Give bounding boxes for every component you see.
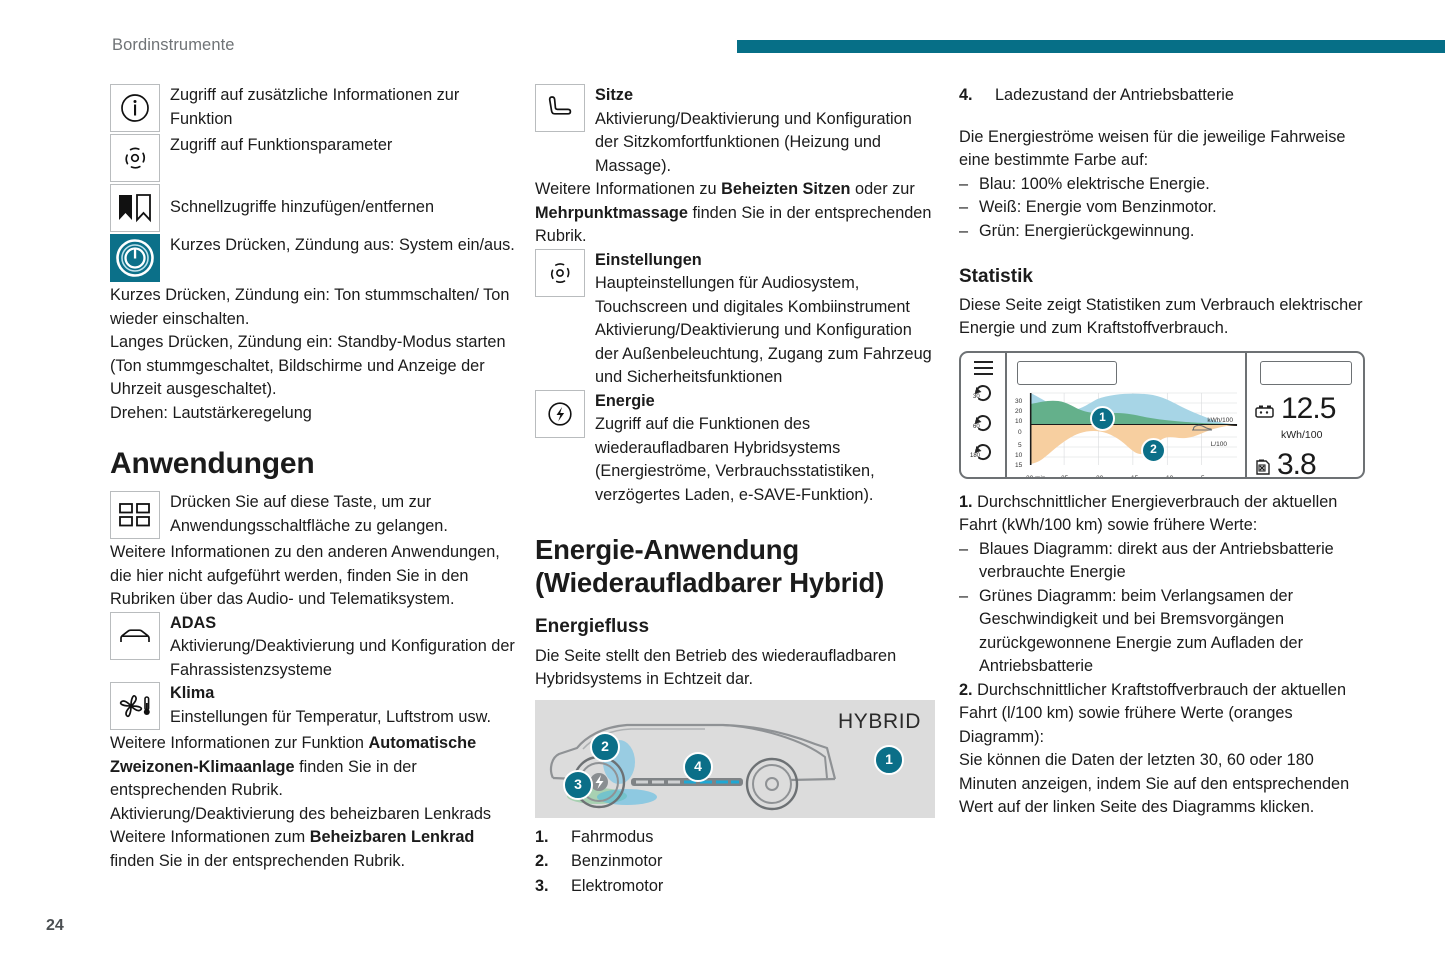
power-button-icon xyxy=(110,234,160,282)
time-range-30-button[interactable]: 30 xyxy=(971,382,995,412)
climate-fan-icon xyxy=(110,682,160,730)
gear-dotted-icon xyxy=(110,134,160,182)
axis-label-l: L/100 xyxy=(1211,433,1227,457)
figure-badge-2: 2 xyxy=(590,732,620,762)
statistics-side-menu: 30 60 180 xyxy=(961,353,1007,477)
fuel-can-icon xyxy=(1255,458,1271,479)
heading-anwendungen: Anwendungen xyxy=(110,447,515,481)
apps-paragraph: Weitere Informationen zu den anderen Anw… xyxy=(110,541,515,612)
note-1-list: Blaues Diagramm: direkt aus der Antriebs… xyxy=(959,538,1371,679)
klima-para-1: Weitere Informationen zur Funktion Autom… xyxy=(110,732,515,803)
sitze-para-c: oder zur xyxy=(851,180,915,198)
energie-item: Energie Zugriff auf die Funktionen des w… xyxy=(535,390,935,508)
note-2-num: 2. xyxy=(959,681,973,699)
energy-consumption-row: 12.5 kWh/100 xyxy=(1255,395,1357,448)
klima-text: Einstellungen für Temperatur, Luftstrom … xyxy=(170,708,491,726)
column-left: Zugriff auf zusätzliche Informationen zu… xyxy=(110,84,515,873)
figure-badge-4: 4 xyxy=(683,752,713,782)
list-item: Blau: 100% elektrische Energie. xyxy=(959,173,1371,197)
legend-num-3: 3. xyxy=(535,875,549,899)
heading-statistik: Statistik xyxy=(959,265,1371,289)
x-tick-10: 10 xyxy=(1166,467,1173,479)
energy-flow-figure: HYBRID xyxy=(535,700,935,818)
shortcuts-item: Schnellzugriffe hinzufügen/entfernen xyxy=(110,184,515,228)
time-range-60-button[interactable]: 60 xyxy=(971,412,995,442)
page-number: 24 xyxy=(46,917,64,935)
time-range-60-label: 60 xyxy=(973,416,980,440)
einstellungen-label: Einstellungen xyxy=(595,251,702,269)
time-range-180-button[interactable]: 180 xyxy=(971,441,995,471)
note-1-num: 1. xyxy=(959,493,973,511)
info-item: Zugriff auf zusätzliche Informationen zu… xyxy=(110,84,515,131)
list-item: Grünes Diagramm: beim Verlangsamen der G… xyxy=(959,585,1371,679)
list-item: Weiß: Energie vom Benzinmotor. xyxy=(959,196,1371,220)
legend-num-4: 4. xyxy=(959,84,973,108)
color-legend-list: Blau: 100% elektrische Energie. Weiß: En… xyxy=(959,173,1371,244)
einstellungen-text: Haupteinstellungen für Audiosystem, Touc… xyxy=(595,274,932,386)
adas-item: ADAS Aktivierung/Deaktivierung und Konfi… xyxy=(110,612,515,683)
energy-flow-legend-cont: 4.Ladezustand der Antriebsbatterie xyxy=(959,84,1371,108)
sitze-item: Sitze Aktivierung/Deaktivierung und Konf… xyxy=(535,84,935,178)
sitze-para-d: Mehrpunktmassage xyxy=(535,204,688,222)
legend-label-3: Elektromotor xyxy=(571,877,663,895)
info-icon xyxy=(110,84,160,132)
energy-bolt-icon xyxy=(535,390,585,438)
list-item: Blaues Diagramm: direkt aus der Antriebs… xyxy=(959,538,1371,585)
energie-label: Energie xyxy=(595,392,655,410)
statistics-values-panel: 12.5 kWh/100 3.8 L/100 xyxy=(1245,353,1363,477)
figure-badge-1: 1 xyxy=(874,745,904,775)
statistics-chart-panel: 30 20 10 0 5 10 15 30 min 25 20 15 10 5 … xyxy=(1007,353,1245,477)
x-tick-20: 20 xyxy=(1096,467,1103,479)
sitze-text: Aktivierung/Deaktivierung und Konfigurat… xyxy=(595,110,912,175)
einstellungen-item: Einstellungen Haupteinstellungen für Aud… xyxy=(535,249,935,390)
legend-label-1: Fahrmodus xyxy=(571,828,653,846)
time-range-30-label: 30 xyxy=(973,386,980,410)
x-tick-25: 25 xyxy=(1061,467,1068,479)
list-item: 4.Ladezustand der Antriebsbatterie xyxy=(959,84,1371,108)
power-item-text: Kurzes Drücken, Zündung aus: System ein/… xyxy=(170,234,515,258)
apps-grid-icon xyxy=(110,491,160,539)
list-item: 2.Benzinmotor xyxy=(535,850,935,874)
legend-label-2: Benzinmotor xyxy=(571,852,662,870)
page-header-title: Bordinstrumente xyxy=(112,36,235,55)
car-side-icon xyxy=(1191,416,1213,440)
heading-energiefluss: Energiefluss xyxy=(535,615,935,639)
battery-icon xyxy=(1255,402,1275,426)
energiestroeme-intro: Die Energieströme weisen für die jeweili… xyxy=(959,126,1371,173)
fuel-value: 3.8 xyxy=(1277,451,1316,479)
apps-item-text: Drücken Sie auf diese Taste, um zur Anwe… xyxy=(170,491,515,538)
adas-label: ADAS xyxy=(170,614,216,632)
bookmarks-icon xyxy=(110,184,160,232)
note-2-text: Durchschnittlicher Kraftstoffverbrauch d… xyxy=(959,681,1346,746)
legend-num-2: 2. xyxy=(535,850,549,874)
car-front-icon xyxy=(110,612,160,660)
x-tick-5: 5 xyxy=(1201,467,1205,479)
heading-energie-anwendung: Energie-Anwendung (Wiederaufladbarer Hyb… xyxy=(535,533,935,599)
statistics-screen: 30 60 180 xyxy=(959,351,1365,479)
power-para-3: Drehen: Lautstärkeregelung xyxy=(110,402,515,426)
note-2-tail: Sie können die Daten der letzten 30, 60 … xyxy=(959,749,1371,820)
note-2: 2. Durchschnittlicher Kraftstoffverbrauc… xyxy=(959,679,1371,750)
klima-para-3: Weitere Informationen zum Beheizbaren Le… xyxy=(110,826,515,873)
note-1: 1. Durchschnittlicher Energieverbrauch d… xyxy=(959,491,1371,538)
info-item-text: Zugriff auf zusätzliche Informationen zu… xyxy=(170,84,515,131)
adas-text: Aktivierung/Deaktivierung und Konfigurat… xyxy=(170,637,515,679)
chart-title-placeholder xyxy=(1017,361,1117,385)
energy-flow-legend: 1.Fahrmodus 2.Benzinmotor 3.Elektromotor xyxy=(535,826,935,899)
klima-para1a: Weitere Informationen zur Funktion xyxy=(110,734,369,752)
klima-para3a: Weitere Informationen zum xyxy=(110,828,310,846)
x-tick-30min: 30 min xyxy=(1026,467,1046,479)
apps-item: Drücken Sie auf diese Taste, um zur Anwe… xyxy=(110,491,515,538)
consumption-chart: 30 20 10 0 5 10 15 30 min 25 20 15 10 5 … xyxy=(1013,389,1239,477)
gear-settings-icon xyxy=(535,249,585,297)
legend-num-1: 1. xyxy=(535,826,549,850)
note-1-text: Durchschnittlicher Energieverbrauch der … xyxy=(959,493,1337,535)
parameters-item: Zugriff auf Funktionsparameter xyxy=(110,134,515,178)
sitze-para-b: Beheizten Sitzen xyxy=(721,180,850,198)
klima-para3b: Beheizbaren Lenkrad xyxy=(310,828,475,846)
list-item: 1.Fahrmodus xyxy=(535,826,935,850)
sitze-paragraph: Weitere Informationen zu Beheizten Sitze… xyxy=(535,178,935,249)
energie-text: Zugriff auf die Funktionen des wiederauf… xyxy=(595,415,875,504)
figure-badge-3: 3 xyxy=(563,770,593,800)
klima-para-2: Aktivierung/Deaktivierung des beheizbare… xyxy=(110,803,515,827)
manual-page: Bordinstrumente Zugriff auf zusätzliche … xyxy=(0,0,1445,963)
y-tick-15: 15 xyxy=(1015,454,1022,478)
legend-label-4: Ladezustand der Antriebsbatterie xyxy=(995,86,1234,104)
energy-value: 12.5 xyxy=(1281,395,1335,423)
seat-icon xyxy=(535,84,585,132)
time-range-180-label: 180 xyxy=(970,445,980,469)
values-title-placeholder xyxy=(1260,361,1352,385)
sitze-para-a: Weitere Informationen zu xyxy=(535,180,721,198)
sitze-label: Sitze xyxy=(595,86,633,104)
column-middle: Sitze Aktivierung/Deaktivierung und Konf… xyxy=(535,84,935,899)
column-right: 4.Ladezustand der Antriebsbatterie Die E… xyxy=(959,84,1371,820)
klima-item: Klima Einstellungen für Temperatur, Luft… xyxy=(110,682,515,729)
list-item: 3.Elektromotor xyxy=(535,875,935,899)
energiefluss-text: Die Seite stellt den Betrieb des wiedera… xyxy=(535,645,935,692)
fuel-consumption-row: 3.8 L/100 xyxy=(1255,451,1357,479)
header-accent-bar xyxy=(737,40,1445,53)
shortcuts-item-text: Schnellzugriffe hinzufügen/entfernen xyxy=(170,184,515,220)
klima-para3c: finden Sie in der entsprechenden Rubrik. xyxy=(110,852,405,870)
power-item: Kurzes Drücken, Zündung aus: System ein/… xyxy=(110,234,515,278)
klima-label: Klima xyxy=(170,684,214,702)
chart-badge-1: 1 xyxy=(1090,406,1115,431)
statistik-text: Diese Seite zeigt Statistiken zum Verbra… xyxy=(959,294,1371,341)
x-tick-15: 15 xyxy=(1131,467,1138,479)
parameters-item-text: Zugriff auf Funktionsparameter xyxy=(170,134,515,158)
chart-badge-2: 2 xyxy=(1141,438,1166,463)
power-para-2: Langes Drücken, Zündung ein: Standby-Mod… xyxy=(110,331,515,402)
list-item: Grün: Energierückgewinnung. xyxy=(959,220,1371,244)
energy-unit: kWh/100 xyxy=(1281,424,1335,448)
hamburger-menu-icon[interactable] xyxy=(974,359,993,383)
power-para-1: Kurzes Drücken, Zündung ein: Ton stummsc… xyxy=(110,284,515,331)
